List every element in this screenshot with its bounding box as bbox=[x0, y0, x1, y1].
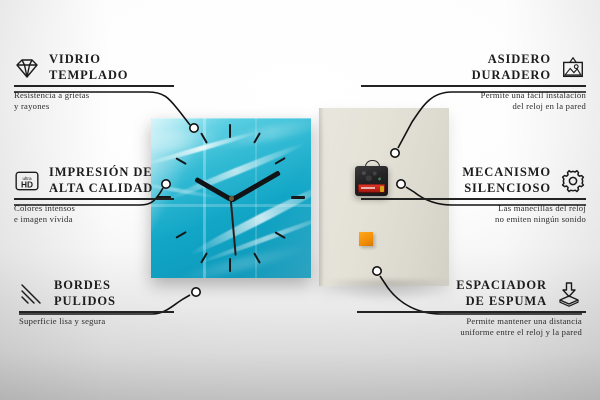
feature-title-line1: ESPACIADOR bbox=[456, 278, 547, 294]
feature-title-line1: BORDES bbox=[54, 278, 116, 294]
picture-frame-hanger-icon bbox=[560, 55, 586, 81]
feature-underline bbox=[14, 85, 174, 86]
feature-title-line1: IMPRESIÓN DE bbox=[49, 165, 153, 181]
wall-panel-edge bbox=[319, 108, 324, 286]
feature-underline bbox=[361, 198, 586, 199]
feature-title-line1: ASIDERO bbox=[472, 52, 551, 68]
feature-desc-line2: e imagen vívida bbox=[14, 214, 239, 225]
feature-desc-line1: Permite mantener una distancia bbox=[357, 316, 582, 327]
feature-vidrio-templado: VIDRIO TEMPLADO Resistencia a grietas y … bbox=[14, 52, 239, 112]
foam-spacer-arrow-icon bbox=[556, 281, 582, 307]
feature-desc-line1: Colores intensos bbox=[14, 203, 239, 214]
feature-title-line2: TEMPLADO bbox=[49, 68, 128, 84]
polished-edges-icon bbox=[19, 281, 45, 307]
feature-title-line2: PULIDOS bbox=[54, 294, 116, 310]
feature-title-line1: VIDRIO bbox=[49, 52, 128, 68]
feature-bordes-pulidos: BORDES PULIDOS Superficie lisa y segura bbox=[19, 278, 244, 327]
feature-desc-line2: y rayones bbox=[14, 101, 239, 112]
gear-icon bbox=[560, 168, 586, 194]
feature-espaciador-de-espuma: ESPACIADOR DE ESPUMA Permite mantener un… bbox=[357, 278, 582, 338]
feature-underline bbox=[361, 85, 586, 86]
svg-text:HD: HD bbox=[21, 179, 33, 189]
feature-impresion-alta-calidad: ultra HD IMPRESIÓN DE ALTA CALIDAD Color… bbox=[14, 165, 239, 225]
feature-desc-line1: Resistencia a grietas bbox=[14, 90, 239, 101]
feature-desc-line1: Superficie lisa y segura bbox=[19, 316, 244, 327]
feature-desc-line2: del reloj en la pared bbox=[361, 101, 586, 112]
feature-desc-line2: uniforme entre el reloj y la pared bbox=[357, 327, 582, 338]
product-infographic: VIDRIO TEMPLADO Resistencia a grietas y … bbox=[0, 0, 600, 400]
feature-title-line2: DE ESPUMA bbox=[456, 294, 547, 310]
feature-desc-line2: no emiten ningún sonido bbox=[361, 214, 586, 225]
feature-title-line2: SILENCIOSO bbox=[462, 181, 551, 197]
feature-title-line2: DURADERO bbox=[472, 68, 551, 84]
clock-tick bbox=[291, 196, 305, 199]
feature-underline bbox=[19, 311, 174, 312]
feature-desc-line1: Las manecillas del reloj bbox=[361, 203, 586, 214]
feature-desc-line1: Permite una fácil instalación bbox=[361, 90, 586, 101]
feature-underline bbox=[14, 198, 174, 199]
ultra-hd-badge-icon: ultra HD bbox=[14, 168, 40, 194]
diamond-icon bbox=[14, 55, 40, 81]
foam-spacer bbox=[359, 232, 373, 246]
feature-title-line1: MECANISMO bbox=[462, 165, 551, 181]
feature-asidero-duradero: ASIDERO DURADERO Permite una fácil insta… bbox=[361, 52, 586, 112]
feature-mecanismo-silencioso: MECANISMO SILENCIOSO Las manecillas del … bbox=[361, 165, 586, 225]
feature-underline bbox=[357, 311, 586, 312]
feature-title-line2: ALTA CALIDAD bbox=[49, 181, 153, 197]
